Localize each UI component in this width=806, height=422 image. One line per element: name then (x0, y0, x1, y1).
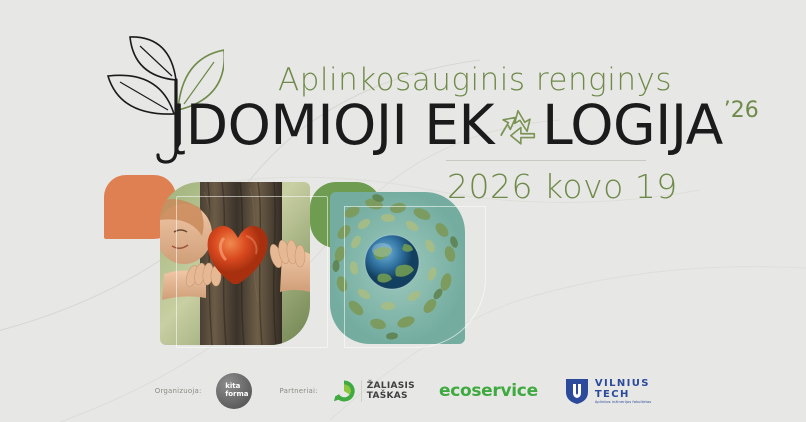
zaliasis-taskas-line1: ŽALIASIS (367, 381, 415, 391)
kita-forma-line1: kita (225, 382, 240, 390)
title-part-before: ĮDOMIOJI EK (170, 98, 494, 153)
ecoservice-logo[interactable]: ecoservice (439, 381, 538, 401)
recycle-icon (495, 105, 541, 151)
photo-child-hugging-tree (160, 182, 310, 345)
logo-divider (361, 380, 362, 402)
vilnius-tech-line1: VILNIUS (595, 378, 651, 389)
zaliasis-taskas-icon (332, 379, 356, 403)
zaliasis-taskas-logo[interactable]: ŽALIASIS TAŠKAS (332, 379, 415, 403)
kita-forma-logo[interactable]: kita forma (216, 373, 252, 409)
footer-sponsors: Organizuoja: kita forma Partneriai: ŽALI… (0, 360, 806, 422)
photo-earth-in-leaves (330, 192, 465, 344)
poster-canvas: Aplinkosauginis renginys ĮDOMIOJI EK LOG… (0, 0, 806, 422)
event-title: ĮDOMIOJI EK LOGIJA ’26 (170, 98, 758, 153)
date-divider (446, 160, 646, 161)
organizer-label: Organizuoja: (155, 387, 202, 395)
kita-forma-line2: forma (225, 390, 248, 398)
vilnius-tech-icon (564, 377, 590, 405)
title-year-superscript: ’26 (724, 98, 759, 123)
vilnius-tech-subtitle: Aplinkos inžinerijos fakultetas (595, 400, 651, 405)
zaliasis-taskas-line2: TAŠKAS (367, 391, 408, 401)
title-part-after: LOGIJA (542, 98, 723, 153)
event-date: 2026 kovo 19 (447, 167, 678, 206)
vilnius-tech-logo[interactable]: VILNIUS TECH Aplinkos inžinerijos fakult… (564, 377, 651, 405)
vilnius-tech-line2: TECH (595, 389, 651, 400)
partners-label: Partneriai: (280, 387, 318, 395)
headline-block: Aplinkosauginis renginys ĮDOMIOJI EK LOG… (170, 62, 790, 172)
